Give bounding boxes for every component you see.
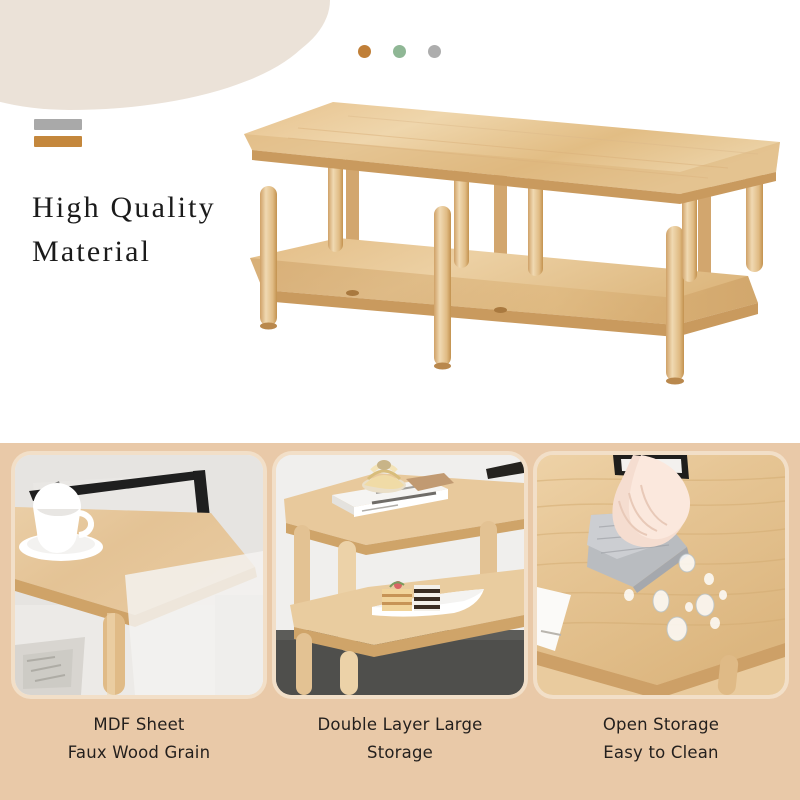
photo-hand-wiping-tabletop [537, 455, 785, 695]
feature-caption-row: MDF Sheet Faux Wood Grain Double Layer L… [0, 711, 800, 768]
caption-double-layer-storage-line-1: Double Layer Large [276, 711, 524, 739]
orange-bar [34, 136, 82, 147]
feature-panel-double-layer-storage[interactable] [276, 455, 524, 695]
hero-section: High Quality Material [0, 0, 800, 443]
page-title: High Quality Material [32, 186, 216, 273]
feature-panel-open-storage-easy-clean[interactable] [537, 455, 785, 695]
photo-two-tier-with-books-and-cake [276, 455, 524, 695]
color-swatch-dots [358, 45, 441, 58]
product-feature-page: High Quality Material [0, 0, 800, 800]
product-image-console-table [228, 98, 798, 398]
feature-panel-mdf-sheet[interactable] [15, 455, 263, 695]
photo-tabletop-with-cup [15, 455, 263, 695]
caption-double-layer-storage: Double Layer Large Storage [276, 711, 524, 768]
caption-mdf-sheet-line-2: Faux Wood Grain [15, 739, 263, 767]
caption-mdf-sheet: MDF Sheet Faux Wood Grain [15, 711, 263, 768]
table-top-surface [244, 102, 780, 204]
features-section: MDF Sheet Faux Wood Grain Double Layer L… [0, 443, 800, 800]
caption-open-storage-easy-clean-line-1: Open Storage [537, 711, 785, 739]
accent-bars [34, 119, 82, 153]
caption-open-storage-easy-clean-line-2: Easy to Clean [537, 739, 785, 767]
caption-mdf-sheet-line-1: MDF Sheet [15, 711, 263, 739]
gray-bar [34, 119, 82, 130]
page-title-line-1: High Quality [32, 186, 216, 230]
dot-green-icon [393, 45, 406, 58]
dot-gray-icon [428, 45, 441, 58]
caption-open-storage-easy-clean: Open Storage Easy to Clean [537, 711, 785, 768]
page-title-line-2: Material [32, 230, 216, 274]
feature-panel-row [0, 455, 800, 695]
caption-double-layer-storage-line-2: Storage [276, 739, 524, 767]
dot-orange-icon [358, 45, 371, 58]
